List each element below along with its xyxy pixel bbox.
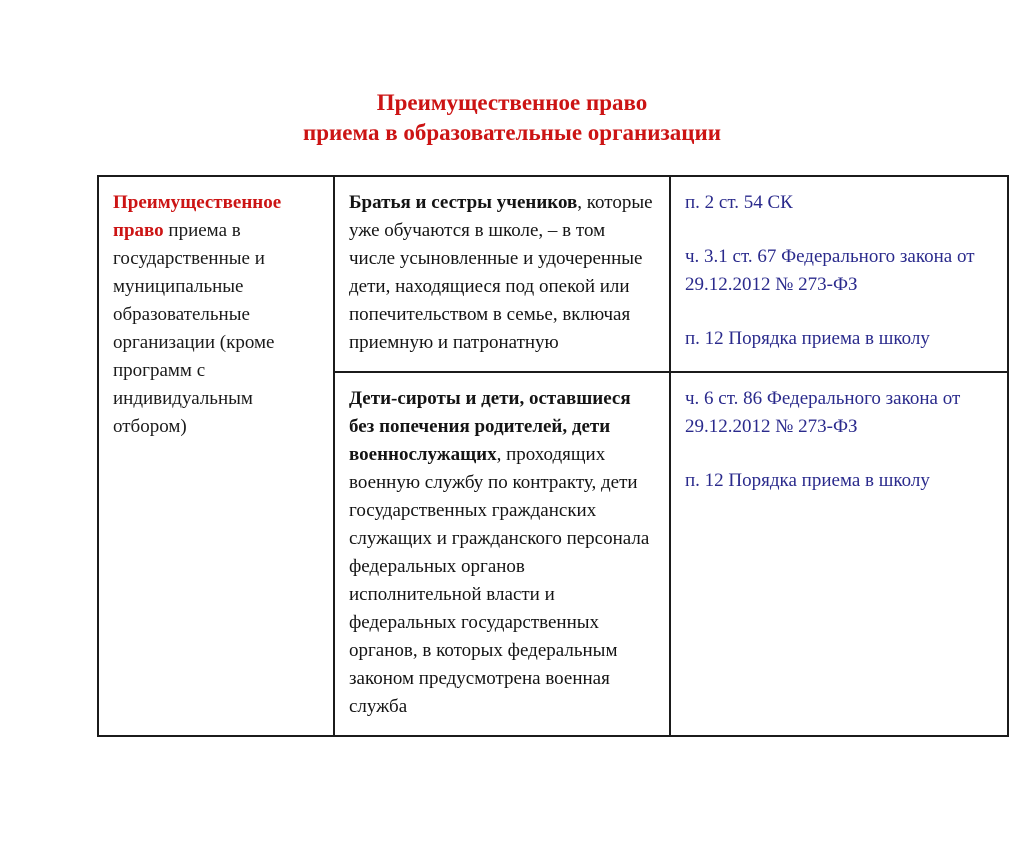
page-title: Преимущественное право приема в образова… bbox=[0, 88, 1024, 148]
legal-reference: п. 2 ст. 54 СК bbox=[685, 189, 993, 217]
cell-right-kind: Преимущественное право приема в государс… bbox=[98, 176, 334, 736]
document-page: Преимущественное право приема в образова… bbox=[0, 0, 1024, 848]
page-title-line-1: Преимущественное право bbox=[0, 88, 1024, 118]
category-text: Дети-сироты и дети, оставшиеся без попеч… bbox=[349, 385, 655, 721]
cell-legal-basis-orphans-military: ч. 6 ст. 86 Федерального закона от 29.12… bbox=[670, 372, 1008, 736]
right-kind-text: Преимущественное право приема в государс… bbox=[113, 189, 319, 441]
legal-reference: п. 12 Порядка приема в школу bbox=[685, 325, 993, 353]
page-title-line-2: приема в образовательные организации bbox=[0, 118, 1024, 148]
category-text: Братья и сестры учеников, которые уже об… bbox=[349, 189, 655, 357]
cell-category-siblings: Братья и сестры учеников, которые уже об… bbox=[334, 176, 670, 372]
cell-category-orphans-military: Дети-сироты и дети, оставшиеся без попеч… bbox=[334, 372, 670, 736]
legal-reference: ч. 3.1 ст. 67 Федерального закона от 29.… bbox=[685, 243, 993, 299]
category-rest: , проходящих военную службу по контракту… bbox=[349, 444, 649, 717]
category-rest: , которые уже обучаются в школе, – в том… bbox=[349, 192, 653, 353]
cell-legal-basis-siblings: п. 2 ст. 54 СК ч. 3.1 ст. 67 Федеральног… bbox=[670, 176, 1008, 372]
right-kind-rest: приема в государственные и муниципальные… bbox=[113, 220, 274, 437]
category-lead: Братья и сестры учеников bbox=[349, 192, 577, 213]
legal-reference: п. 12 Порядка приема в школу bbox=[685, 467, 993, 495]
table-row: Преимущественное право приема в государс… bbox=[98, 176, 1008, 372]
legal-reference: ч. 6 ст. 86 Федерального закона от 29.12… bbox=[685, 385, 993, 441]
admission-priority-table: Преимущественное право приема в государс… bbox=[97, 175, 1009, 737]
